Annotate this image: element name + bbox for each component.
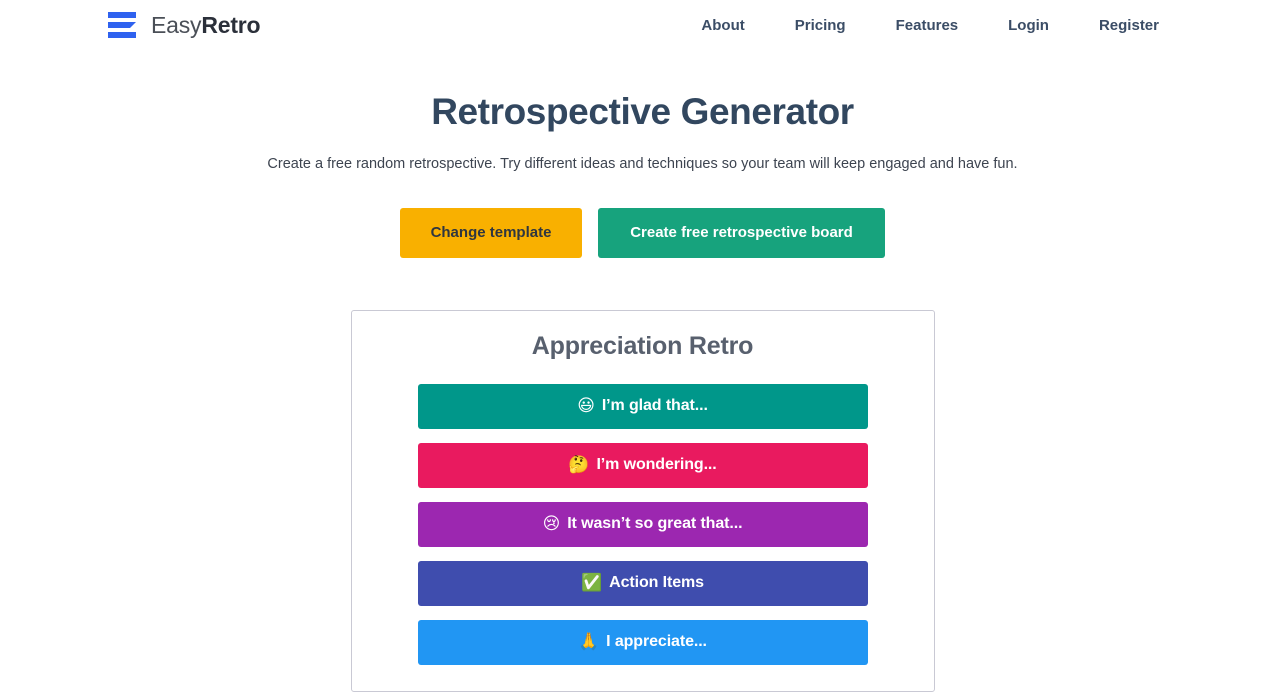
check-mark-button-icon: ✅ [581,575,602,592]
template-column-row[interactable]: 😃 I’m glad that... [418,384,868,429]
brand-name-bold: Retro [201,12,260,38]
page-subtitle: Create a free random retrospective. Try … [0,154,1285,174]
hero-action-buttons: Change template Create free retrospectiv… [0,208,1285,258]
nav-link-features[interactable]: Features [896,17,959,34]
folded-hands-icon: 🙏 [578,634,599,651]
template-column-row[interactable]: 🤔 I’m wondering... [418,443,868,488]
brand-name-light: Easy [151,12,201,38]
site-header: EasyRetro About Pricing Features Login R… [0,0,1285,50]
crying-face-icon: 😢 [543,516,561,533]
nav-link-login[interactable]: Login [1008,17,1049,34]
template-column-row[interactable]: ✅ Action Items [418,561,868,606]
template-column-label: Action Items [609,575,704,591]
main-navigation: About Pricing Features Login Register [701,17,1159,34]
template-column-list: 😃 I’m glad that... 🤔 I’m wondering... 😢 … [418,384,868,665]
thinking-face-icon: 🤔 [568,457,589,474]
template-column-label: It wasn’t so great that... [567,516,742,532]
template-column-label: I’m wondering... [596,457,716,473]
nav-link-register[interactable]: Register [1099,17,1159,34]
template-title: Appreciation Retro [418,331,868,362]
change-template-button[interactable]: Change template [400,208,582,258]
grinning-face-icon: 😃 [577,398,595,415]
template-preview-card: Appreciation Retro 😃 I’m glad that... 🤔 … [351,310,935,692]
hero-section: Retrospective Generator Create a free ra… [0,50,1285,258]
page-title: Retrospective Generator [0,90,1285,134]
template-column-row[interactable]: 🙏 I appreciate... [418,620,868,665]
brand-logo-link[interactable]: EasyRetro [108,10,260,40]
nav-link-about[interactable]: About [701,17,744,34]
template-column-row[interactable]: 😢 It wasn’t so great that... [418,502,868,547]
easyretro-bars-logo-icon [108,10,141,40]
nav-link-pricing[interactable]: Pricing [795,17,846,34]
brand-wordmark: EasyRetro [151,14,260,37]
template-column-label: I appreciate... [606,634,707,650]
template-column-label: I’m glad that... [602,398,708,414]
create-free-retrospective-board-button[interactable]: Create free retrospective board [598,208,885,258]
